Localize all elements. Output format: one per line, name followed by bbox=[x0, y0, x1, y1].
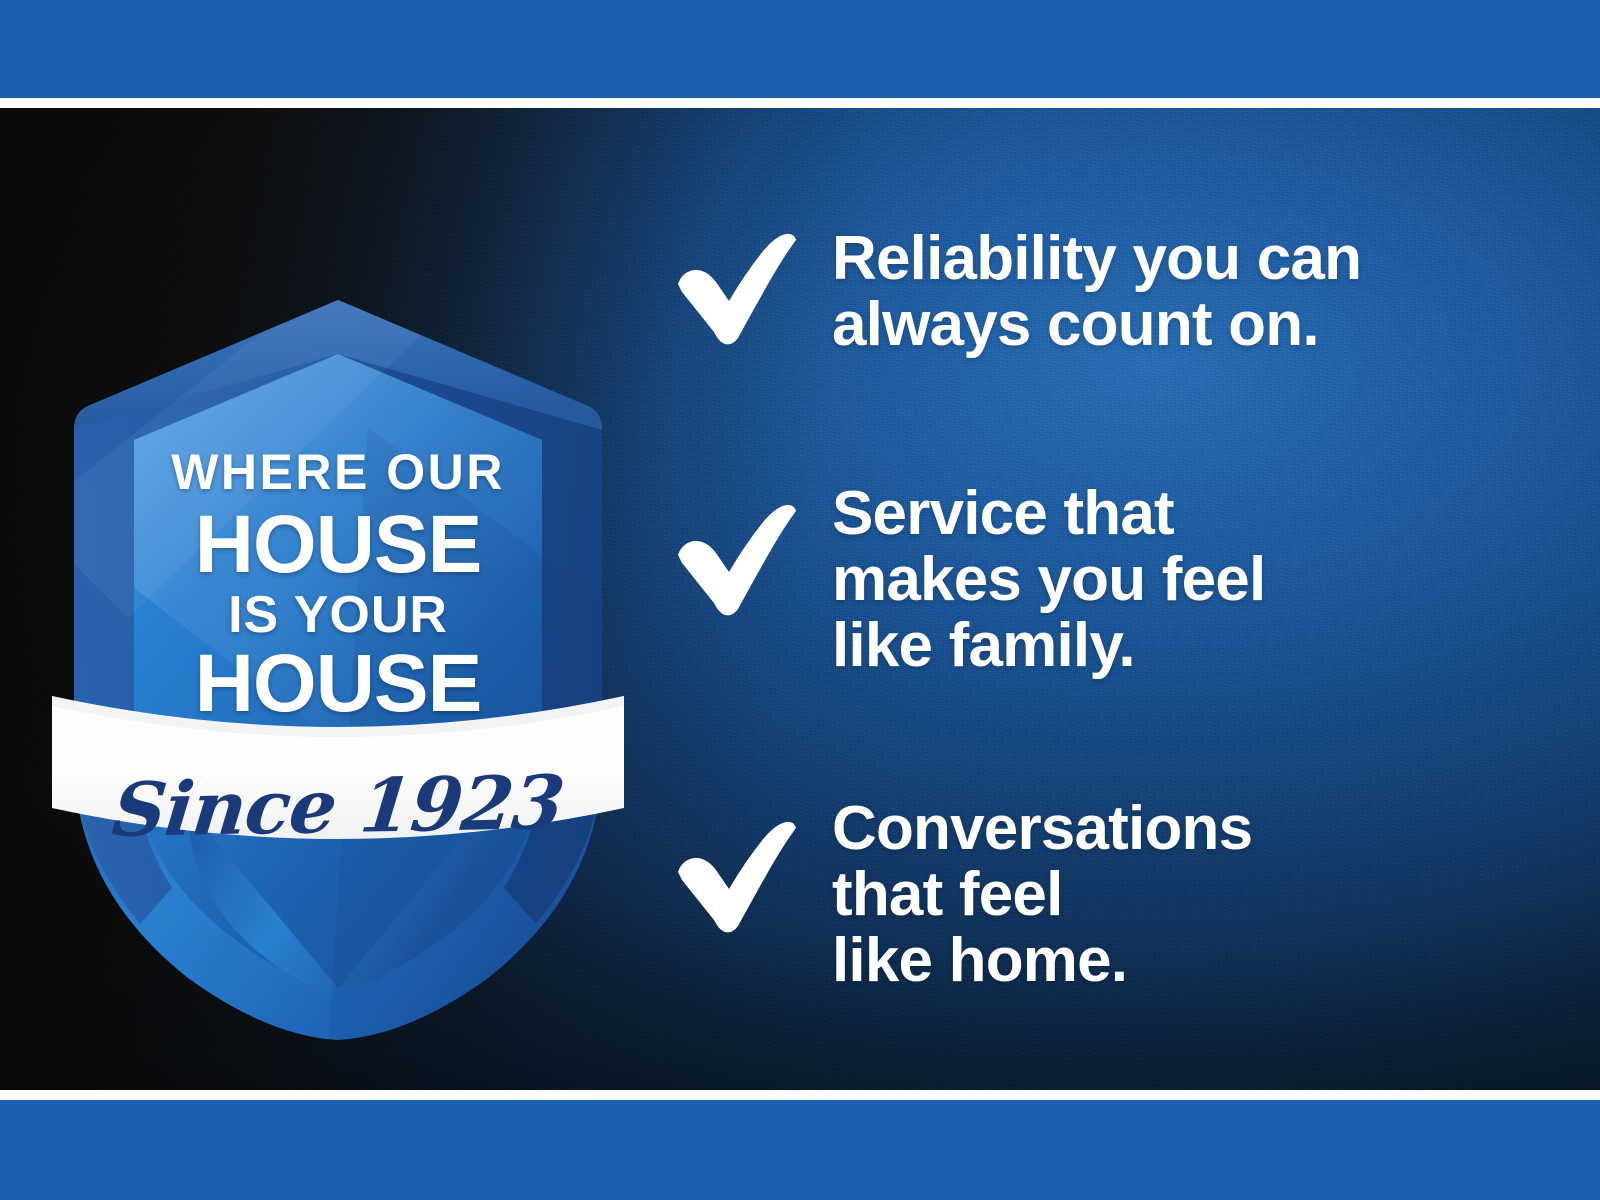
bottom-divider-rule bbox=[0, 1090, 1600, 1100]
benefit-line: like family. bbox=[832, 613, 1265, 679]
benefit-item-conversations: Conversations that feel like home. bbox=[672, 792, 1532, 995]
checkmark-icon bbox=[672, 228, 798, 346]
benefit-line: Conversations bbox=[832, 796, 1252, 862]
hero-stage: Where our House is your House Since 1923… bbox=[0, 108, 1600, 1092]
benefit-line: that feel bbox=[832, 862, 1252, 928]
promo-graphic: Where our House is your House Since 1923… bbox=[0, 0, 1600, 1200]
shield-badge: Where our House is your House Since 1923 bbox=[68, 288, 608, 1048]
benefit-text-service: Service that makes you feel like family. bbox=[832, 477, 1265, 680]
top-divider-rule bbox=[0, 98, 1600, 108]
checkmark-icon bbox=[672, 816, 798, 934]
bottom-accent-bar bbox=[0, 1100, 1600, 1200]
benefit-line: Reliability you can bbox=[832, 226, 1361, 292]
benefit-text-conversations: Conversations that feel like home. bbox=[832, 792, 1252, 995]
shield-body bbox=[28, 248, 668, 1078]
checkmark-icon bbox=[672, 499, 798, 617]
top-accent-bar bbox=[0, 0, 1600, 98]
benefit-line: always count on. bbox=[832, 292, 1361, 358]
benefit-text-reliability: Reliability you can always count on. bbox=[832, 224, 1361, 359]
benefit-line: Service that bbox=[832, 481, 1265, 547]
benefit-line: like home. bbox=[832, 928, 1252, 994]
benefits-list: Reliability you can always count on. Ser… bbox=[672, 224, 1532, 995]
benefit-item-service: Service that makes you feel like family. bbox=[672, 477, 1532, 680]
benefit-item-reliability: Reliability you can always count on. bbox=[672, 224, 1532, 359]
benefit-line: makes you feel bbox=[832, 547, 1265, 613]
